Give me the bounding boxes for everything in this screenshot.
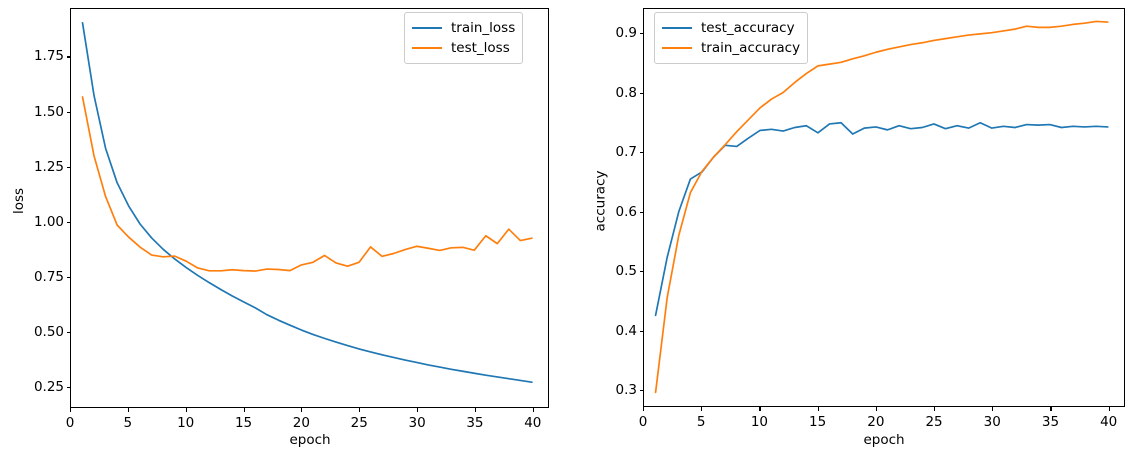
xtick-mark bbox=[70, 408, 71, 412]
xtick-mark bbox=[643, 407, 644, 411]
xtick-mark bbox=[876, 407, 877, 411]
legend-label-train-loss: train_loss bbox=[451, 20, 515, 36]
legend-item-test-loss[interactable]: test_loss bbox=[412, 38, 515, 58]
xtick-label: 10 bbox=[177, 415, 194, 431]
panel-accuracy: 0.30.40.50.60.70.80.90510152025303540 ep… bbox=[568, 0, 1136, 456]
xtick-label: 20 bbox=[293, 415, 310, 431]
ytick-mark bbox=[67, 167, 71, 168]
xtick-mark bbox=[301, 408, 302, 412]
ytick-label: 0.75 bbox=[24, 269, 64, 285]
loss-xaxis-label: epoch bbox=[289, 432, 330, 448]
ytick-label: 1.75 bbox=[24, 48, 64, 64]
xtick-label: 40 bbox=[524, 415, 541, 431]
xtick-mark bbox=[128, 408, 129, 412]
loss-plot-lines bbox=[71, 9, 548, 407]
xtick-mark bbox=[1050, 407, 1051, 411]
xtick-label: 15 bbox=[809, 414, 826, 430]
xtick-label: 40 bbox=[1100, 414, 1117, 430]
legend-swatch-train-accuracy bbox=[662, 47, 692, 49]
legend-label-test-accuracy: test_accuracy bbox=[701, 20, 795, 36]
xtick-label: 30 bbox=[984, 414, 1001, 430]
ytick-mark bbox=[640, 390, 644, 391]
xtick-label: 5 bbox=[697, 414, 706, 430]
xtick-label: 35 bbox=[1042, 414, 1059, 430]
xtick-mark bbox=[934, 407, 935, 411]
xtick-label: 35 bbox=[466, 415, 483, 431]
ytick-mark bbox=[640, 152, 644, 153]
xtick-mark bbox=[701, 407, 702, 411]
ytick-label: 1.50 bbox=[24, 104, 64, 120]
axes-loss bbox=[70, 8, 549, 408]
series-line-train-loss bbox=[83, 23, 532, 382]
ytick-mark bbox=[640, 93, 644, 94]
accuracy-yaxis-label: accuracy bbox=[592, 171, 608, 232]
ytick-label: 1.00 bbox=[24, 214, 64, 230]
legend-swatch-test-accuracy bbox=[662, 27, 692, 29]
ytick-label: 0.4 bbox=[597, 323, 637, 339]
axes-accuracy bbox=[643, 8, 1125, 407]
xtick-label: 0 bbox=[66, 415, 75, 431]
loss-yaxis-label: loss bbox=[11, 188, 27, 214]
ytick-label: 0.3 bbox=[597, 382, 637, 398]
xtick-mark bbox=[186, 408, 187, 412]
accuracy-xaxis-label: epoch bbox=[863, 432, 904, 448]
accuracy-legend[interactable]: test_accuracy train_accuracy bbox=[654, 12, 808, 64]
ytick-mark bbox=[640, 271, 644, 272]
ytick-mark bbox=[640, 212, 644, 213]
ytick-label: 0.8 bbox=[597, 85, 637, 101]
ytick-mark bbox=[67, 112, 71, 113]
xtick-mark bbox=[475, 408, 476, 412]
xtick-mark bbox=[818, 407, 819, 411]
xtick-label: 20 bbox=[867, 414, 884, 430]
xtick-label: 10 bbox=[751, 414, 768, 430]
legend-item-train-loss[interactable]: train_loss bbox=[412, 18, 515, 38]
ytick-mark bbox=[640, 331, 644, 332]
figure: 0.250.500.751.001.251.501.75051015202530… bbox=[0, 0, 1137, 456]
ytick-mark bbox=[67, 332, 71, 333]
xtick-mark bbox=[992, 407, 993, 411]
ytick-label: 0.50 bbox=[24, 324, 64, 340]
ytick-mark bbox=[67, 387, 71, 388]
ytick-label: 0.7 bbox=[597, 144, 637, 160]
loss-legend[interactable]: train_loss test_loss bbox=[404, 12, 523, 64]
ytick-mark bbox=[67, 277, 71, 278]
ytick-mark bbox=[640, 33, 644, 34]
xtick-mark bbox=[533, 408, 534, 412]
ytick-mark bbox=[67, 56, 71, 57]
xtick-mark bbox=[417, 408, 418, 412]
xtick-label: 15 bbox=[235, 415, 252, 431]
legend-label-train-accuracy: train_accuracy bbox=[701, 40, 800, 56]
ytick-label: 0.9 bbox=[597, 25, 637, 41]
xtick-mark bbox=[359, 408, 360, 412]
series-line-test-loss bbox=[83, 97, 532, 271]
xtick-mark bbox=[244, 408, 245, 412]
xtick-label: 30 bbox=[409, 415, 426, 431]
xtick-label: 25 bbox=[351, 415, 368, 431]
panel-loss: 0.250.500.751.001.251.501.75051015202530… bbox=[0, 0, 568, 456]
xtick-label: 25 bbox=[925, 414, 942, 430]
ytick-label: 1.25 bbox=[24, 159, 64, 175]
ytick-label: 0.5 bbox=[597, 263, 637, 279]
xtick-mark bbox=[759, 407, 760, 411]
series-line-test-accuracy bbox=[656, 123, 1108, 316]
legend-item-train-accuracy[interactable]: train_accuracy bbox=[662, 38, 800, 58]
xtick-label: 5 bbox=[124, 415, 133, 431]
xtick-mark bbox=[1109, 407, 1110, 411]
legend-swatch-train-loss bbox=[412, 27, 442, 29]
ytick-label: 0.25 bbox=[24, 379, 64, 395]
legend-label-test-loss: test_loss bbox=[451, 40, 510, 56]
accuracy-plot-lines bbox=[644, 9, 1124, 406]
ytick-mark bbox=[67, 222, 71, 223]
xtick-label: 0 bbox=[639, 414, 648, 430]
series-line-train-accuracy bbox=[656, 21, 1108, 392]
legend-swatch-test-loss bbox=[412, 47, 442, 49]
legend-item-test-accuracy[interactable]: test_accuracy bbox=[662, 18, 800, 38]
